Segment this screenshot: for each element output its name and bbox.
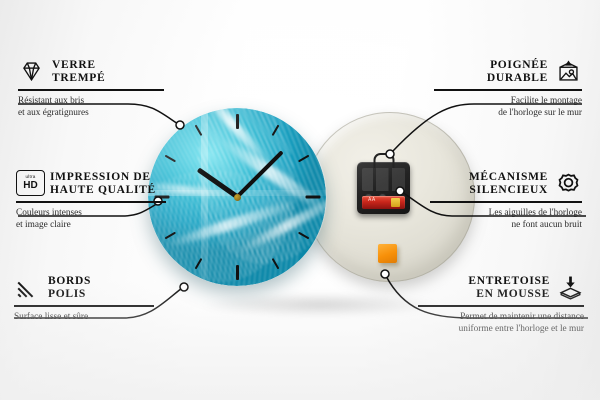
title-line-1: ENTRETOISE <box>468 275 550 287</box>
product-shadow <box>155 288 485 322</box>
title-line-2: POLIS <box>48 288 91 300</box>
leader-dot-3 <box>180 283 188 291</box>
title-line-1: BORDS <box>48 275 91 287</box>
sub-line-1: Permet de maintenir une distance <box>418 311 584 324</box>
title-line-2: SILENCIEUX <box>469 184 548 196</box>
infographic-canvas: AA <box>0 0 600 400</box>
clock-mechanism: AA <box>357 162 410 214</box>
callout-poignee-durable: POIGNÉE DURABLE Facilite le montage de l… <box>434 58 582 120</box>
callout-title: POIGNÉE DURABLE <box>487 59 548 84</box>
sub-line-1: Facilite le montage <box>434 95 582 108</box>
callout-verre-trempe: VERRE TREMPÉ Résistant aux bris et aux é… <box>18 58 164 120</box>
callout-rule <box>434 89 582 91</box>
foam-spacer <box>378 244 397 263</box>
sub-line-1: Surface lisse et sûre <box>14 311 154 324</box>
callout-impression-haute-qualite: ultra HD IMPRESSION DE HAUTE QUALITÉ Cou… <box>16 170 166 232</box>
mechanism-label <box>362 168 405 191</box>
gear-icon <box>555 170 582 197</box>
callout-subtitle: Surface lisse et sûre <box>14 311 154 324</box>
sub-line-2: et aux égratignures <box>18 107 164 120</box>
callout-rule <box>16 201 166 203</box>
sub-line-2: et image claire <box>16 219 166 232</box>
sub-line-2: uniforme entre l'horloge et le mur <box>418 323 584 336</box>
callout-bords-polis: BORDS POLIS Surface lisse et sûre <box>14 274 154 323</box>
title-line-2: DURABLE <box>487 72 548 84</box>
sub-line-1: Résistant aux bris <box>18 95 164 108</box>
callout-mecanisme-silencieux: MÉCANISME SILENCIEUX Les aiguilles de l'… <box>430 170 582 232</box>
glass-gloss <box>148 108 326 286</box>
battery-text: AA <box>368 197 376 203</box>
title-line-1: VERRE <box>52 59 105 71</box>
callout-subtitle: Permet de maintenir une distance uniform… <box>418 311 584 336</box>
callout-rule <box>430 201 582 203</box>
foam-spacer-icon <box>557 274 584 301</box>
title-line-2: HAUTE QUALITÉ <box>50 184 156 196</box>
callout-subtitle: Couleurs intenses et image claire <box>16 207 166 232</box>
title-line-1: IMPRESSION DE <box>50 171 156 183</box>
ultra-hd-icon: ultra HD <box>16 170 43 197</box>
callout-entretoise-en-mousse: ENTRETOISE EN MOUSSE Permet de maintenir… <box>418 274 584 336</box>
callout-subtitle: Facilite le montage de l'horloge sur le … <box>434 95 582 120</box>
callout-title: BORDS POLIS <box>48 275 91 300</box>
callout-subtitle: Les aiguilles de l'horloge ne font aucun… <box>430 207 582 232</box>
diamond-icon <box>18 58 45 85</box>
callout-title: ENTRETOISE EN MOUSSE <box>468 275 550 300</box>
callout-title: VERRE TREMPÉ <box>52 59 105 84</box>
battery: AA <box>362 196 405 209</box>
sub-line-2: ne font aucun bruit <box>430 219 582 232</box>
sub-line-2: de l'horloge sur le mur <box>434 107 582 120</box>
battery-plus-terminal <box>391 198 400 207</box>
hanger-loop-icon <box>373 153 394 168</box>
clock-front-view <box>148 108 326 286</box>
callout-title: MÉCANISME SILENCIEUX <box>469 171 548 196</box>
polished-edges-icon <box>14 274 41 301</box>
title-line-2: TREMPÉ <box>52 72 105 84</box>
sub-line-1: Les aiguilles de l'horloge <box>430 207 582 220</box>
leader-line-3 <box>14 288 182 318</box>
leader-line-6 <box>386 276 588 318</box>
callout-rule <box>418 305 584 307</box>
callout-title: IMPRESSION DE HAUTE QUALITÉ <box>50 171 156 196</box>
title-line-1: MÉCANISME <box>469 171 548 183</box>
callout-rule <box>14 305 154 307</box>
title-line-2: EN MOUSSE <box>468 288 550 300</box>
picture-hanger-icon <box>555 58 582 85</box>
callout-rule <box>18 89 164 91</box>
callout-subtitle: Résistant aux bris et aux égratignures <box>18 95 164 120</box>
title-line-1: POIGNÉE <box>487 59 548 71</box>
sub-line-1: Couleurs intenses <box>16 207 166 220</box>
hd-badge-large-text: HD <box>23 181 37 191</box>
